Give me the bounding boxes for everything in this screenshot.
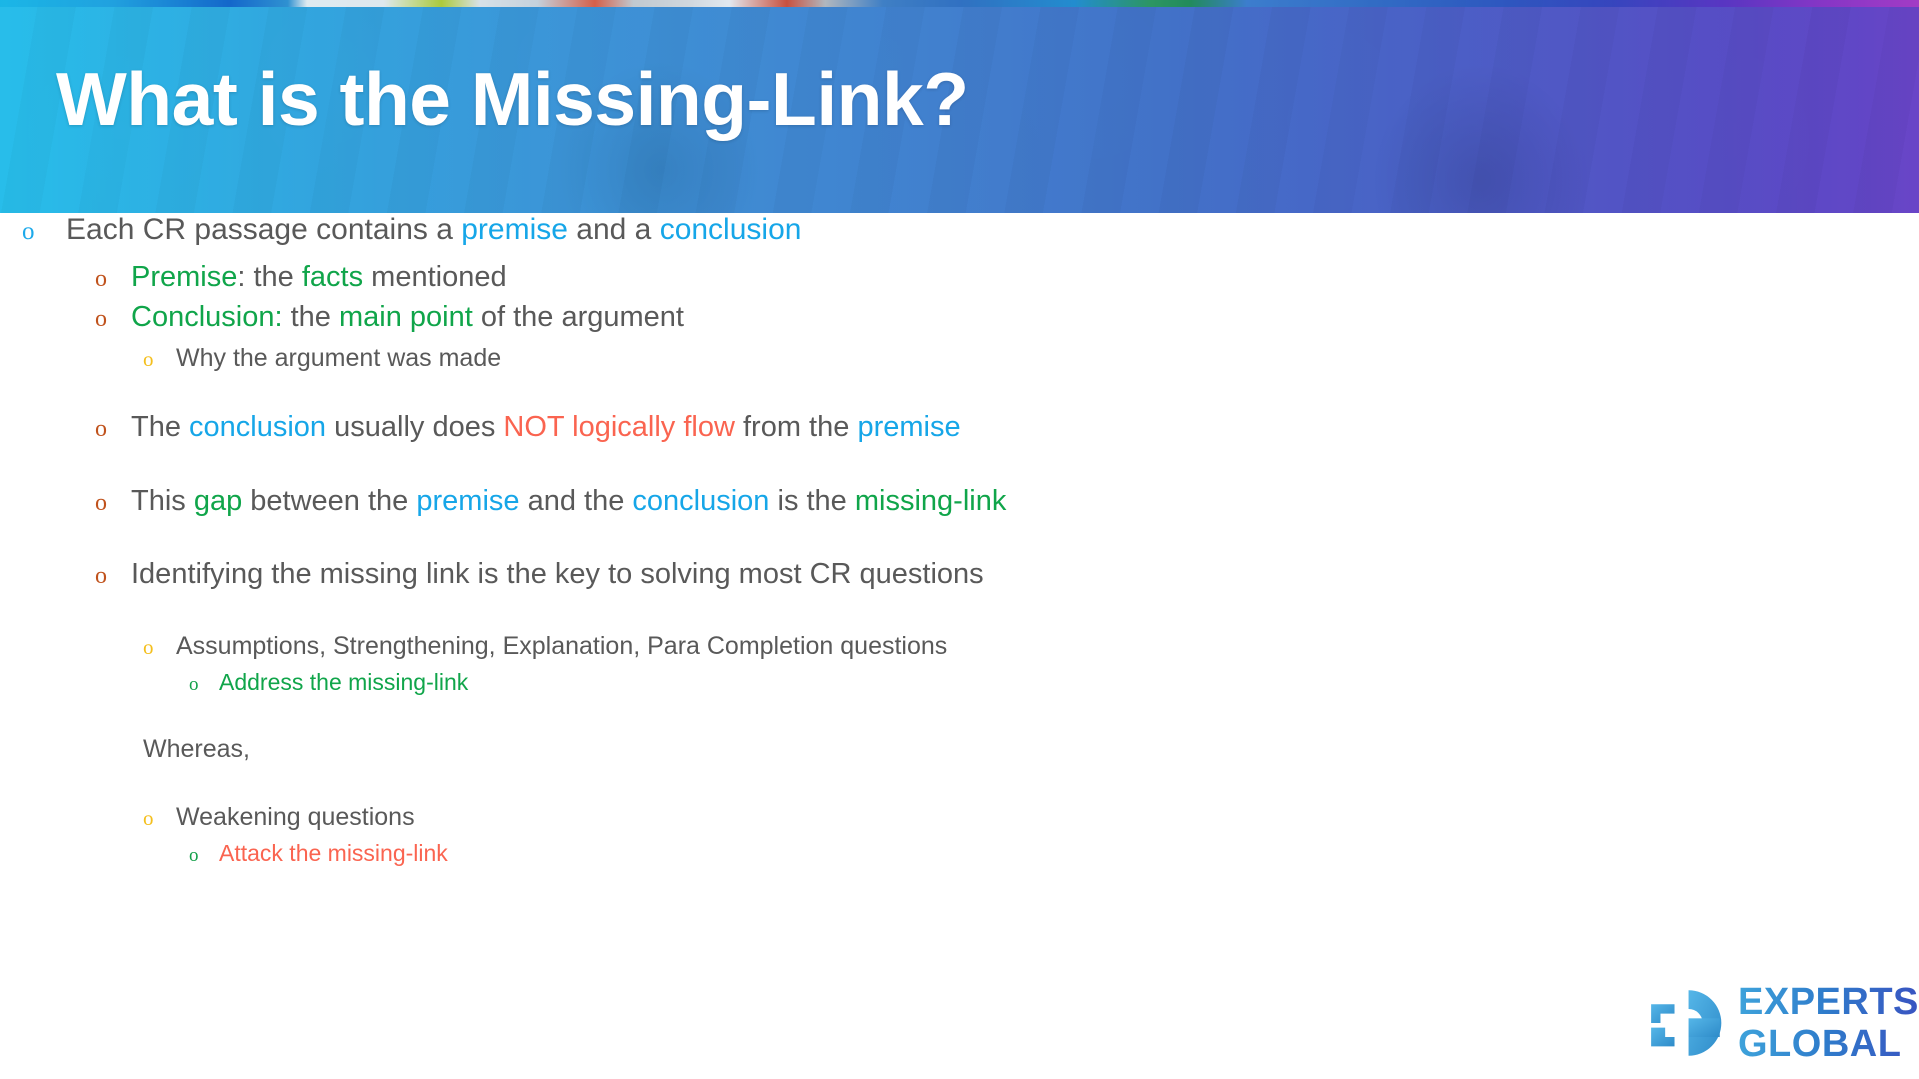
text-fragment: and the: [520, 485, 633, 517]
bullet-item-conclusion-not-flow: o The conclusion usually does NOT logica…: [95, 411, 961, 444]
transition-text-whereas: Whereas,: [143, 735, 250, 764]
logo-line-experts: EXPERTS’: [1738, 983, 1919, 1021]
bullet-text-each-cr-passage: Each CR passage contains a premise and a…: [66, 213, 801, 247]
bullet-item-each-cr-passage: o Each CR passage contains a premise and…: [22, 213, 801, 247]
bullet-item-attack-missing-link: o Attack the missing-link: [189, 840, 448, 867]
bullet-text-premise-definition: Premise: the facts mentioned: [131, 261, 507, 294]
text-highlight-main-point: main point: [339, 301, 473, 333]
text-highlight-conclusion-label: Conclusion:: [131, 301, 283, 333]
text-highlight-gap: gap: [194, 485, 242, 517]
text-fragment: the: [283, 301, 339, 333]
text-fragment: The: [131, 411, 189, 443]
text-fragment: mentioned: [363, 261, 507, 293]
bullet-marker-level1: o: [22, 218, 66, 246]
bullet-marker-level3: o: [143, 347, 176, 372]
text-fragment: : the: [237, 261, 302, 293]
text-highlight-facts: facts: [302, 261, 363, 293]
bullet-item-address-missing-link: o Address the missing-link: [189, 669, 468, 696]
bullet-marker-level3: o: [143, 635, 176, 660]
bullet-marker-level2: o: [95, 266, 131, 293]
text-highlight-conclusion: conclusion: [632, 485, 769, 517]
text-highlight-premise-label: Premise: [131, 261, 237, 293]
text-fragment: This: [131, 485, 194, 517]
bullet-item-weakening-questions: o Weakening questions: [143, 803, 415, 832]
bullet-marker-level4: o: [189, 845, 219, 867]
text-fragment: and a: [568, 213, 660, 246]
bullet-text-attack-missing-link: Attack the missing-link: [219, 840, 448, 867]
experts-global-logo-icon: [1648, 984, 1726, 1062]
bullet-marker-level3: o: [143, 806, 176, 831]
bullet-item-assumption-question-types: o Assumptions, Strengthening, Explanatio…: [143, 632, 947, 661]
text-fragment: usually does: [326, 411, 503, 443]
bullet-marker-level4: o: [189, 674, 219, 696]
text-highlight-premise: premise: [857, 411, 960, 443]
slide-title: What is the Missing-Link?: [56, 56, 969, 142]
bullet-marker-level2: o: [95, 416, 131, 443]
banner-top-color-strip: [0, 0, 1919, 7]
text-fragment: of the argument: [473, 301, 684, 333]
bullet-item-gap-is-missing-link: o This gap between the premise and the c…: [95, 485, 1006, 518]
logo-line-global: GLOBAL: [1738, 1025, 1919, 1063]
bullet-text-why-argument-made: Why the argument was made: [176, 344, 501, 373]
brand-logo: EXPERTS’ GLOBAL: [1648, 975, 1898, 1071]
bullet-item-conclusion-definition: o Conclusion: the main point of the argu…: [95, 301, 684, 334]
bullet-text-conclusion-not-flow: The conclusion usually does NOT logicall…: [131, 411, 961, 444]
text-highlight-conclusion: conclusion: [189, 411, 326, 443]
text-fragment: is the: [769, 485, 854, 517]
text-highlight-conclusion: conclusion: [660, 213, 802, 246]
bullet-text-address-missing-link: Address the missing-link: [219, 669, 468, 696]
text-fragment: from the: [735, 411, 858, 443]
bullet-item-premise-definition: o Premise: the facts mentioned: [95, 261, 507, 294]
bullet-marker-level2: o: [95, 563, 131, 590]
text-highlight-not-logically-flow: NOT logically flow: [503, 411, 735, 443]
text-fragment: Each CR passage contains a: [66, 213, 461, 246]
bullet-text-identifying-missing-link: Identifying the missing link is the key …: [131, 558, 984, 591]
bullet-marker-level2: o: [95, 490, 131, 517]
text-highlight-premise: premise: [416, 485, 519, 517]
text-highlight-premise: premise: [461, 213, 568, 246]
text-fragment: between the: [242, 485, 416, 517]
bullet-text-assumption-question-types: Assumptions, Strengthening, Explanation,…: [176, 632, 947, 661]
logo-wordmark: EXPERTS’ GLOBAL: [1738, 983, 1919, 1063]
bullet-item-why-argument-made: o Why the argument was made: [143, 344, 501, 373]
transition-label-whereas: Whereas,: [143, 735, 250, 764]
bullet-text-weakening-questions: Weakening questions: [176, 803, 415, 832]
bullet-item-identifying-missing-link: o Identifying the missing link is the ke…: [95, 558, 984, 591]
text-highlight-missing-link: missing-link: [855, 485, 1006, 517]
slide-body: o Each CR passage contains a premise and…: [0, 213, 1919, 1079]
bullet-text-conclusion-definition: Conclusion: the main point of the argume…: [131, 301, 684, 334]
bullet-marker-level2: o: [95, 306, 131, 333]
slide-header-banner: What is the Missing-Link?: [0, 0, 1919, 213]
bullet-text-gap-is-missing-link: This gap between the premise and the con…: [131, 485, 1006, 518]
